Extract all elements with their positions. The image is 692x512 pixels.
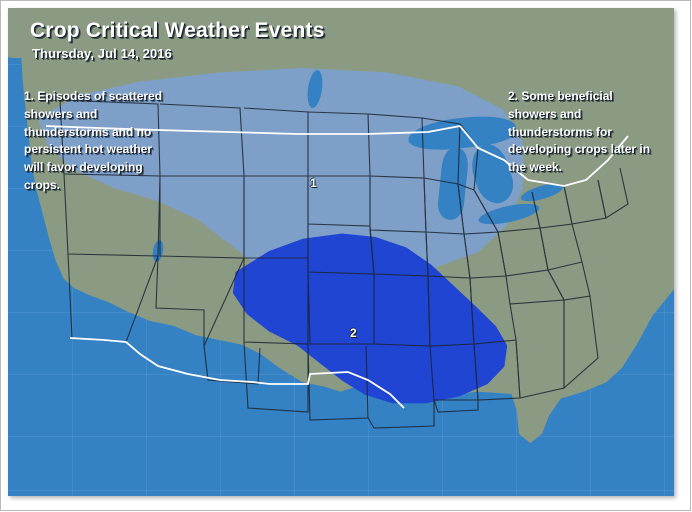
boundary-lines <box>8 8 674 496</box>
annotation-note-2: 2. Some beneficial showers and thunderst… <box>508 88 653 177</box>
region-marker-2: 2 <box>350 326 357 340</box>
weather-map[interactable]: Crop Critical Weather Events Thursday, J… <box>8 8 674 496</box>
screenshot-root: Crop Critical Weather Events Thursday, J… <box>0 0 692 512</box>
page-title: Crop Critical Weather Events <box>30 20 325 42</box>
region-marker-1: 1 <box>310 176 317 190</box>
map-date: Thursday, Jul 14, 2016 <box>32 46 172 61</box>
annotation-note-1: 1. Episodes of scattered showers and thu… <box>24 88 174 195</box>
